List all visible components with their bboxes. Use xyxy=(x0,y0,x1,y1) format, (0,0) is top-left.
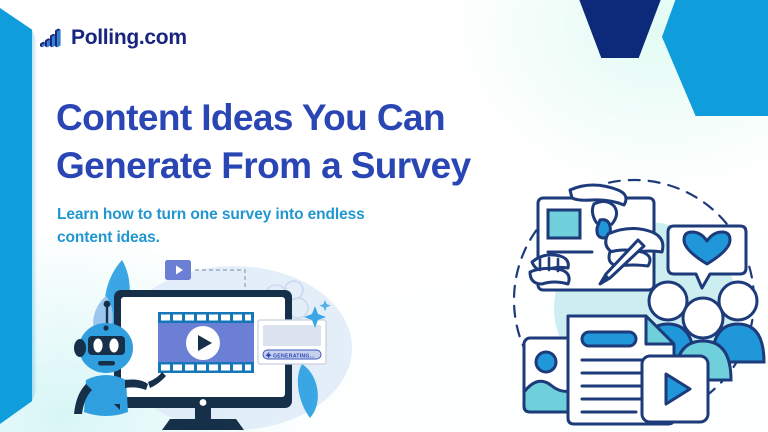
robot-eye-right xyxy=(109,339,118,353)
page-title-line-2: Generate From a Survey xyxy=(56,142,556,190)
video-play-card[interactable] xyxy=(642,356,708,422)
page-title-line-1: Content Ideas You Can xyxy=(56,94,556,142)
robot-eye-left xyxy=(93,339,102,353)
page-subtitle-line-1: Learn how to turn one survey into endles… xyxy=(57,203,457,226)
document-thumbnail xyxy=(548,210,580,238)
hand-writing-document xyxy=(530,185,663,290)
generating-label: GENERATING... xyxy=(273,354,315,360)
monitor-stand xyxy=(162,419,244,430)
bar-chart-icon xyxy=(38,24,64,50)
robot-mouth xyxy=(98,361,115,366)
page-title: Content Ideas You Can Generate From a Su… xyxy=(56,94,556,189)
chevron-navy-decoration xyxy=(568,0,672,58)
brand-logo[interactable]: Polling.com xyxy=(38,24,187,50)
person-head-center xyxy=(683,298,723,338)
robot-antenna-tip xyxy=(104,301,111,308)
robot-ear xyxy=(74,339,86,357)
content-creation-illustration xyxy=(496,168,764,430)
page-subtitle-line-2: content ideas. xyxy=(57,226,457,249)
slide-canvas: Polling.com Content Ideas You Can Genera… xyxy=(0,0,768,432)
monitor-led xyxy=(200,399,207,406)
film-strip-video xyxy=(158,312,254,373)
document-title-bar xyxy=(582,332,636,346)
video-badge xyxy=(165,260,191,280)
robot-head-dot xyxy=(103,325,108,330)
person-head-right xyxy=(719,282,757,320)
person-head-left xyxy=(649,282,687,320)
image-sun-icon xyxy=(536,352,556,372)
brand-name: Polling.com xyxy=(71,27,187,48)
robot-presenting-video-illustration: GENERATING... xyxy=(62,252,362,432)
chevron-blue-decoration xyxy=(662,0,768,116)
generating-popup: GENERATING... xyxy=(258,320,326,364)
page-subtitle: Learn how to turn one survey into endles… xyxy=(57,203,457,250)
left-accent-bar xyxy=(0,8,32,424)
left-accent-bar-shadow xyxy=(32,8,37,424)
